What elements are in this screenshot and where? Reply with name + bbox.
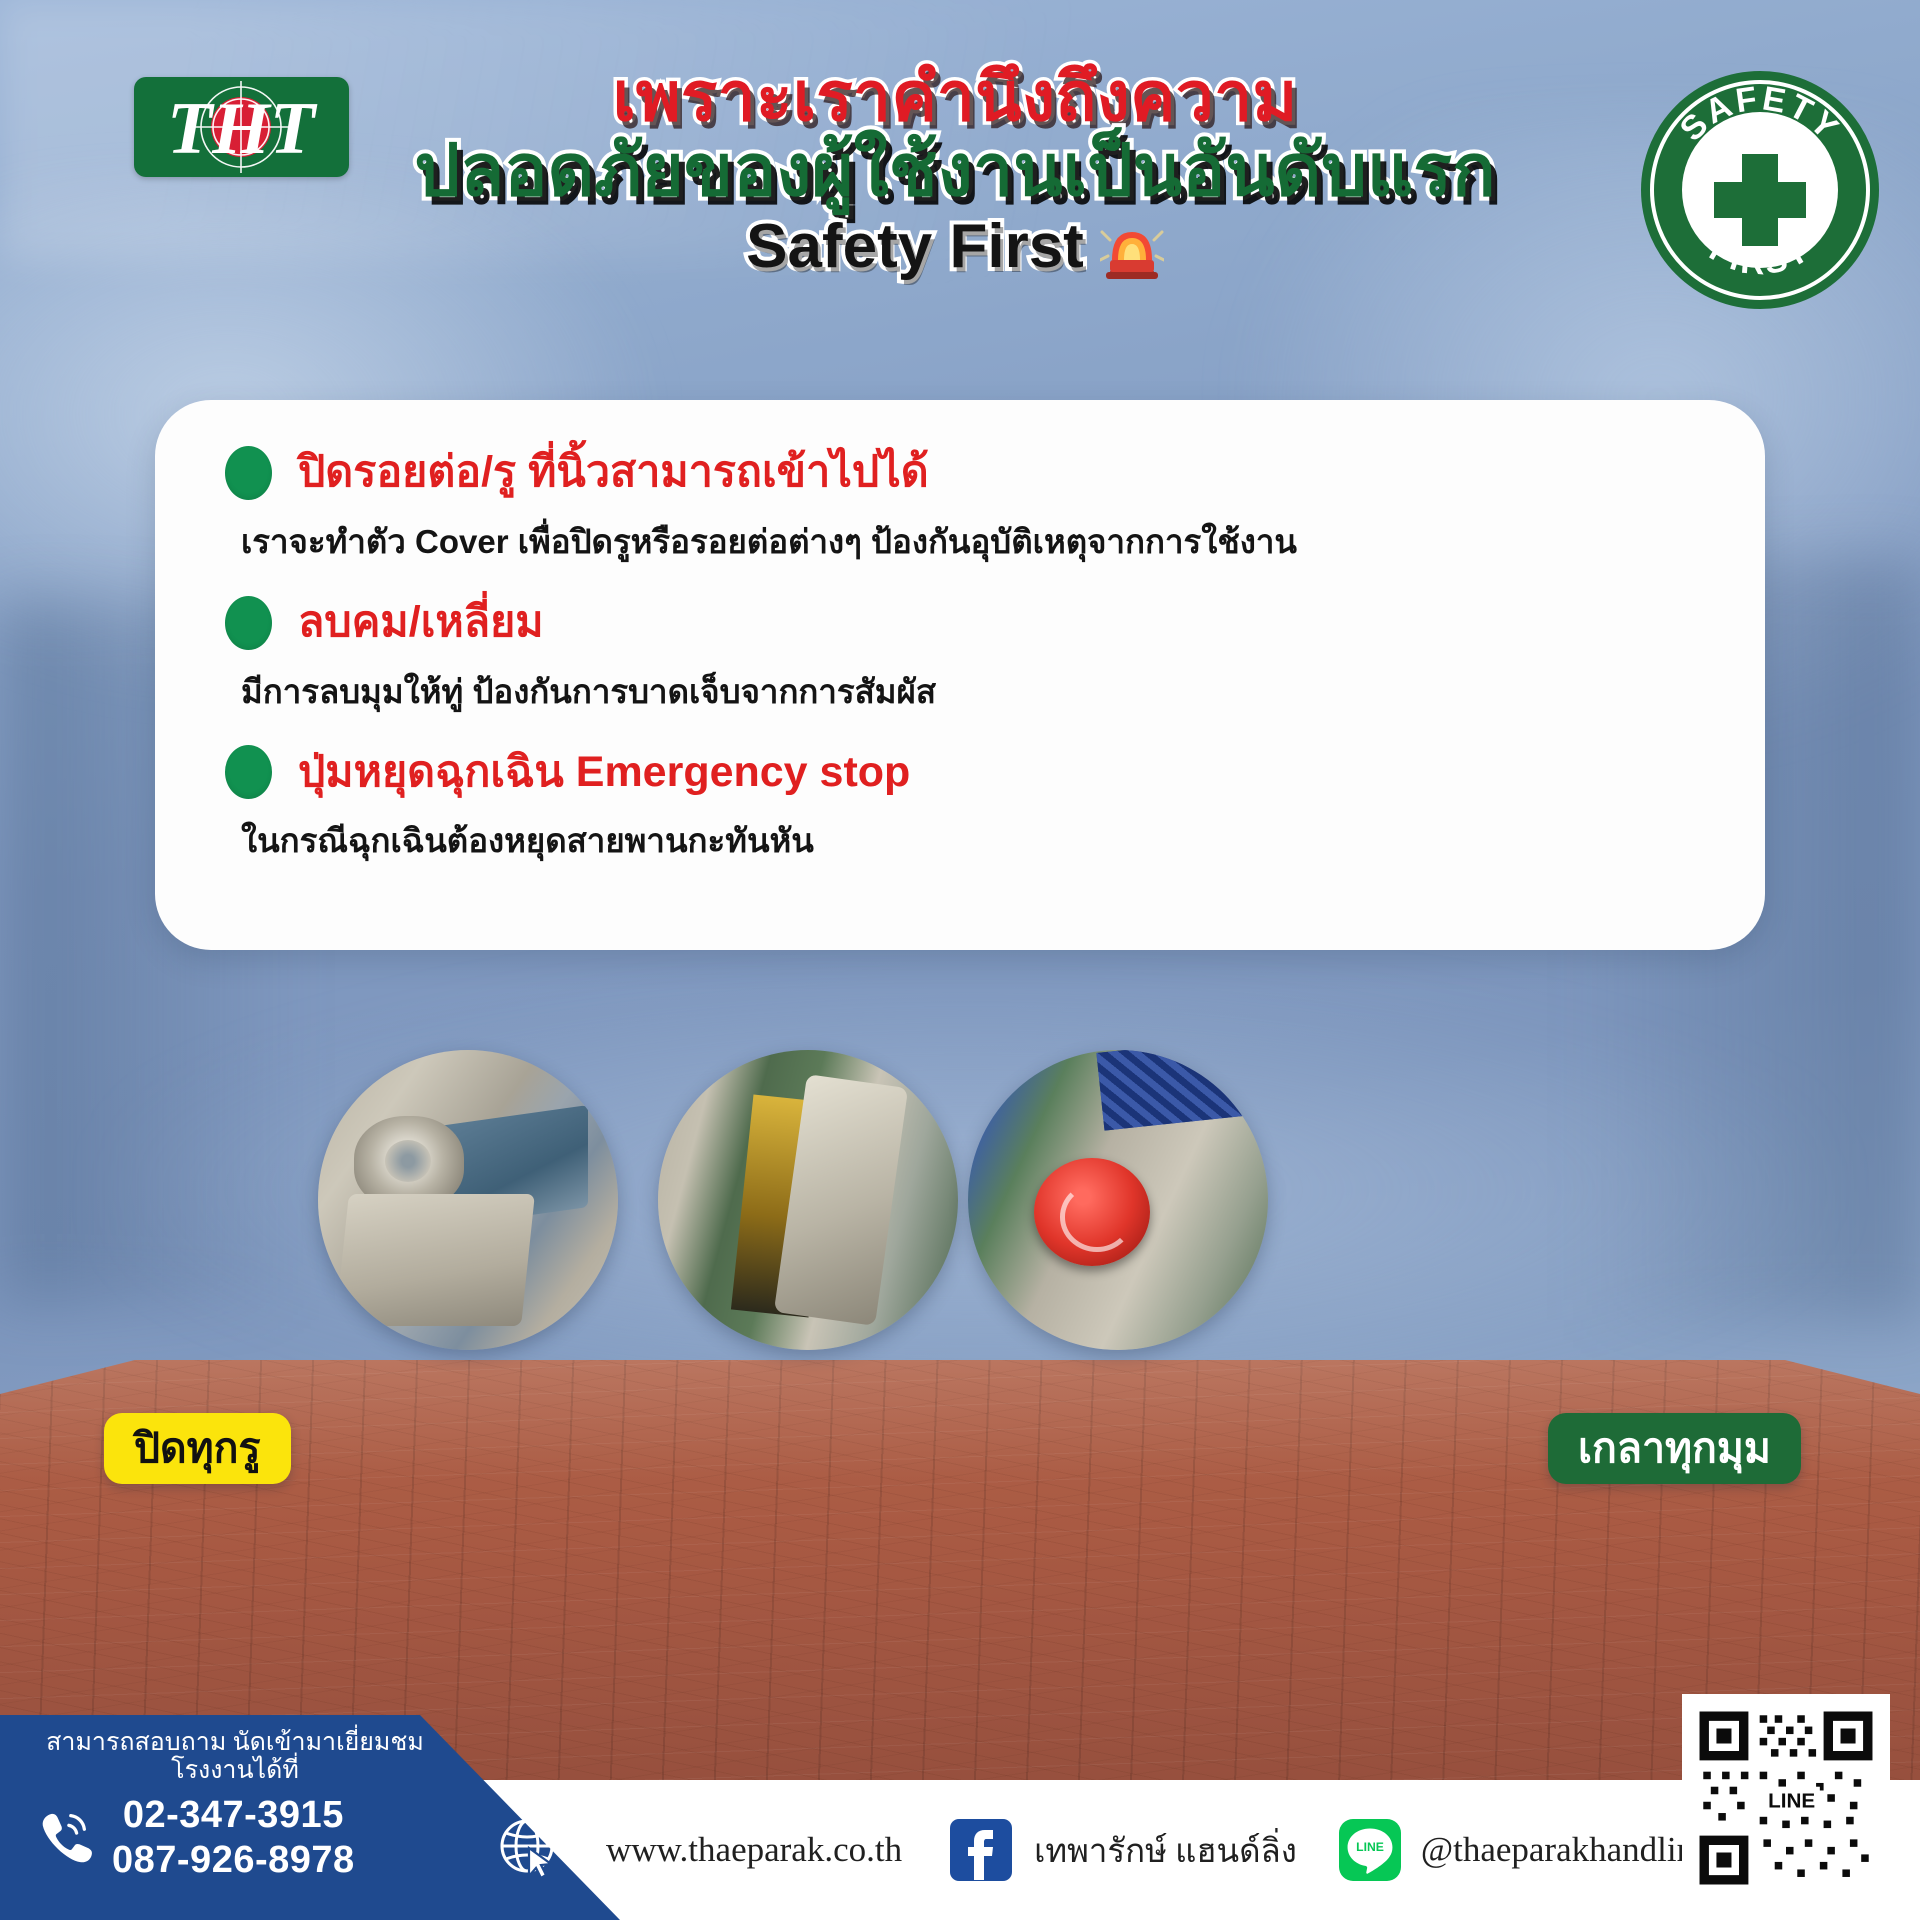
photo-covered-joint [318,1050,618,1350]
footer-bar: สามารถสอบถาม นัดเข้ามาเยี่ยมชมโรงงานได้ท… [0,1780,1920,1920]
bullet-dot-icon [225,596,272,650]
safety-point-3: ปุ่มหยุดฉุกเฉิน Emergency stop ในกรณีฉุก… [225,745,1695,861]
headline-line-1: เพราะเราคำนึงถึงความ [330,62,1580,132]
safety-point-1: ปิดรอยต่อ/รู ที่นิ้วสามารถเข้าไปได้ เราจ… [225,446,1695,562]
poster-root: THT เพราะเราคำนึงถึงความ ปลอดภัยของผู้ใช… [0,0,1920,1920]
contact-note: สามารถสอบถาม นัดเข้ามาเยี่ยมชมโรงงานได้ท… [35,1729,435,1785]
header: THT เพราะเราคำนึงถึงความ ปลอดภัยของผู้ใช… [0,0,1920,360]
photo-gallery [0,1040,1920,1360]
website-url[interactable]: www.thaeparak.co.th [606,1830,902,1870]
safety-point-3-title: ปุ่มหยุดฉุกเฉิน Emergency stop [298,749,910,796]
headline-line-2: ปลอดภัยของผู้ใช้งานเป็นอันดับแรก [330,134,1580,210]
phone-number-2: 087-926-8978 [112,1838,355,1883]
facebook-page-name[interactable]: เทพารักษ์ แฮนด์ลิ่ง [1034,1824,1297,1877]
emergency-stop-button-icon [1034,1158,1150,1266]
tag-close-all-holes: ปิดทุกรู [104,1413,291,1484]
line-icon[interactable]: LINE [1339,1819,1401,1881]
safety-point-1-head: ปิดรอยต่อ/รู ที่นิ้วสามารถเข้าไปได้ [225,446,1695,500]
safety-point-2-body: มีการลบมุมให้ทู่ ป้องกันการบาดเจ็บจากการ… [241,672,1695,712]
phone-icon [36,1806,94,1869]
phone-number-1: 02-347-3915 [112,1793,355,1838]
safety-point-1-title: ปิดรอยต่อ/รู ที่นิ้วสามารถเข้าไปได้ [298,449,929,496]
safety-point-3-head: ปุ่มหยุดฉุกเฉิน Emergency stop [225,745,1695,799]
safety-points-card: ปิดรอยต่อ/รู ที่นิ้วสามารถเข้าไปได้ เราจ… [155,400,1765,950]
safety-point-2-head: ลบคม/เหลี่ยม [225,596,1695,650]
headline-line-3: Safety First [746,214,1084,279]
headline-line-3-row: Safety First [330,214,1580,280]
qr-center-label: LINE [1768,1789,1815,1812]
tht-logo: THT [134,77,349,177]
phone-numbers: 02-347-3915 087-926-8978 [112,1793,355,1883]
safety-first-badge: SAFETY FIRST [1636,66,1884,314]
safety-point-3-body: ในกรณีฉุกเฉินต้องหยุดสายพานกะทันหัน [241,821,1695,861]
blue-mesh [1096,1050,1268,1131]
headline: เพราะเราคำนึงถึงความ ปลอดภัยของผู้ใช้งาน… [330,62,1580,280]
photo-deburred-edge [658,1050,958,1350]
rotating-light-icon [1100,214,1164,280]
line-icon-label: LINE [1356,1840,1384,1854]
svg-text:THT: THT [167,88,318,170]
facebook-icon[interactable] [950,1819,1012,1881]
tht-logo-mark: THT [134,77,349,177]
bullet-dot-icon [225,446,272,500]
safety-point-2: ลบคม/เหลี่ยม มีการลบมุมให้ทู่ ป้องกันการ… [225,596,1695,712]
line-official-id[interactable]: @thaeparakhandling [1421,1830,1712,1870]
bearing-housing [354,1116,464,1208]
photo-emergency-stop [968,1050,1268,1350]
bullet-dot-icon [225,745,272,799]
phone-block: 02-347-3915 087-926-8978 [36,1793,470,1883]
line-qr-code[interactable]: LINE [1682,1694,1890,1902]
safety-point-1-body: เราจะทำตัว Cover เพื่อปิดรูหรือรอยต่อต่า… [241,522,1695,562]
tag-smooth-all-corners: เกลาทุกมุม [1548,1413,1801,1484]
website-globe-icon [470,1814,588,1886]
safety-point-2-title: ลบคม/เหลี่ยม [298,599,544,646]
footer-contact-block: สามารถสอบถาม นัดเข้ามาเยี่ยมชมโรงงานได้ท… [0,1715,470,1920]
